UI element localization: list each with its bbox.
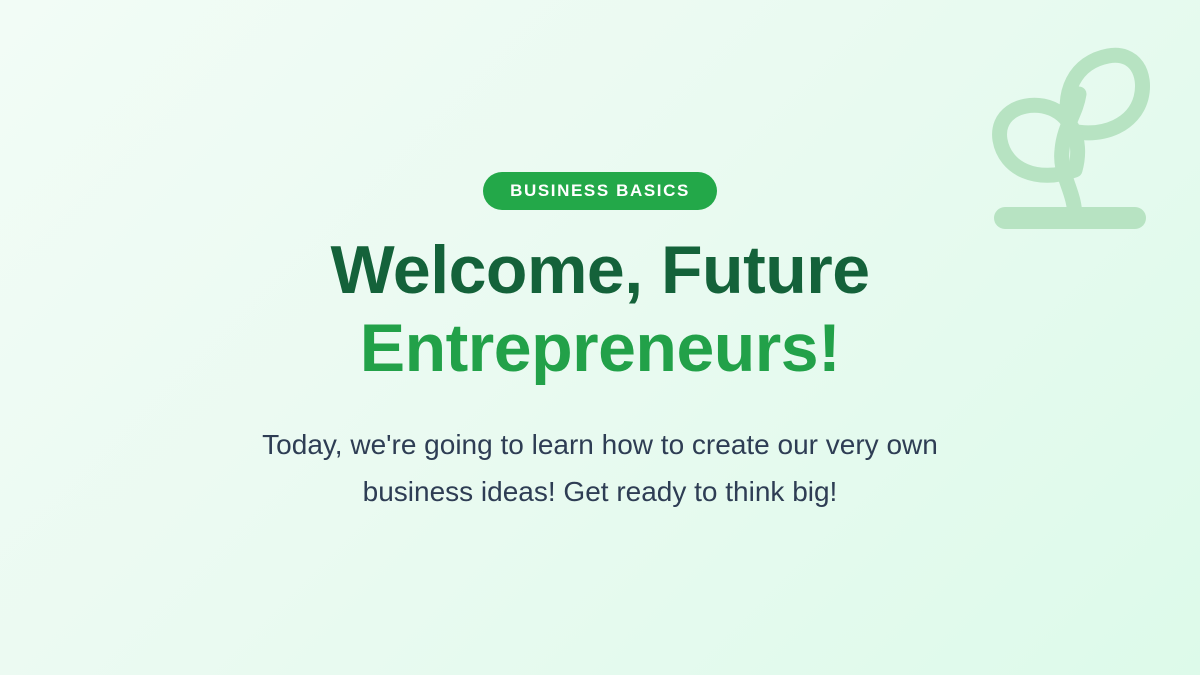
page-title: Welcome, Future Entrepreneurs! [330, 210, 869, 387]
subtitle: Today, we're going to learn how to creat… [262, 387, 938, 515]
slide-content: BUSINESS BASICS Welcome, Future Entrepre… [0, 0, 1200, 675]
subtitle-line-2: business ideas! Get ready to think big! [262, 468, 938, 515]
headline-line-2: Entrepreneurs! [330, 310, 869, 388]
slide-canvas: BUSINESS BASICS Welcome, Future Entrepre… [0, 0, 1200, 675]
headline-line-1: Welcome, Future [330, 232, 869, 310]
subtitle-line-1: Today, we're going to learn how to creat… [262, 421, 938, 468]
category-badge: BUSINESS BASICS [483, 172, 717, 210]
